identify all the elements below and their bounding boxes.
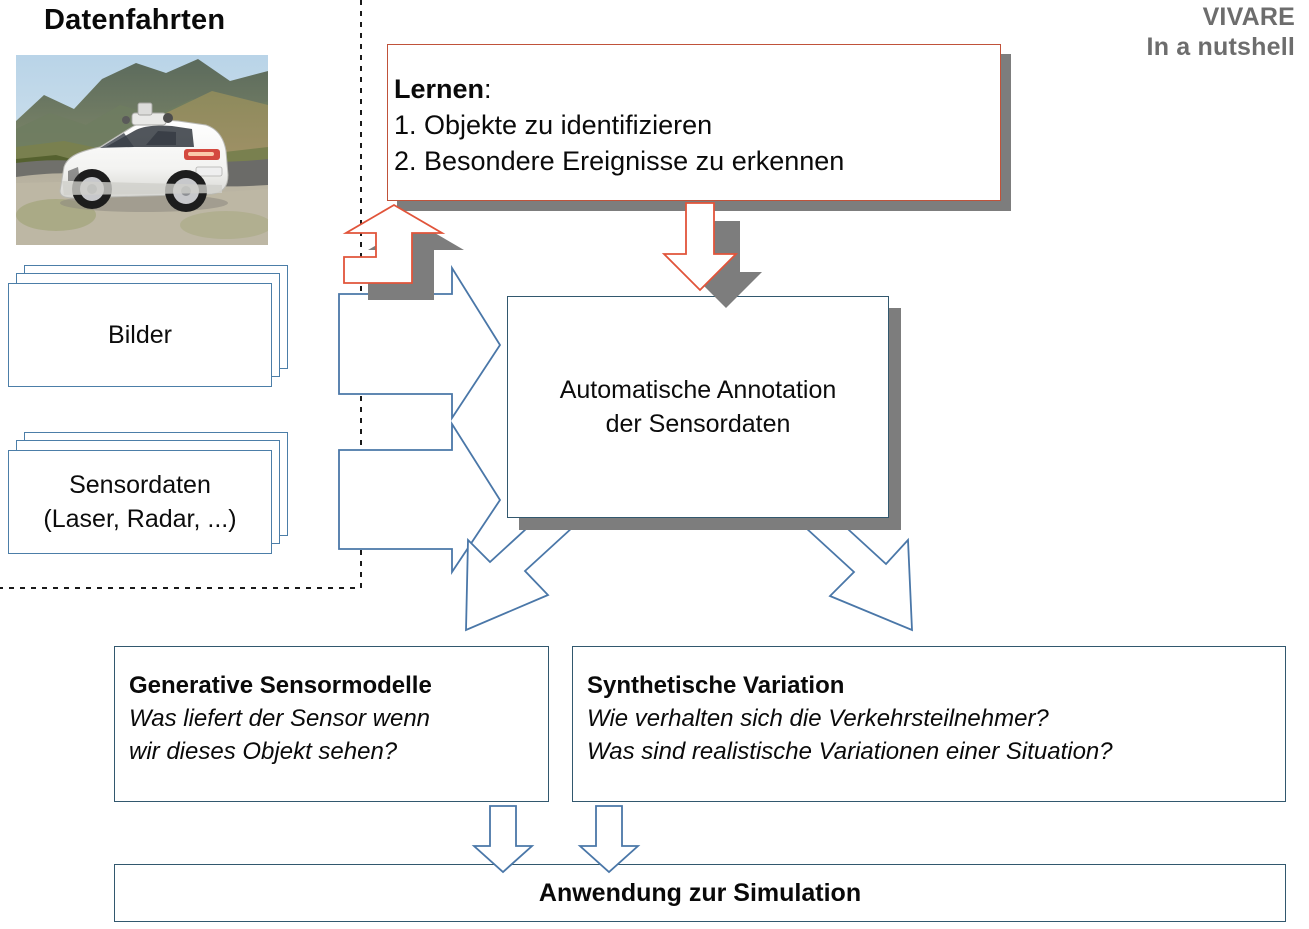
stack-sheet-front: Bilder: [8, 283, 272, 387]
input-label-bilder: Bilder: [108, 318, 172, 352]
result-question-generative-2: wir dieses Objekt sehen?: [129, 735, 548, 768]
arrow-lernen-to-annotation: [664, 203, 762, 308]
brand-header: VIVARE In a nutshell: [1147, 2, 1295, 62]
input-stack-sensordaten: Sensordaten (Laser, Radar, ...): [0, 432, 300, 562]
lernen-box: Lernen: 1. Objekte zu identifizieren 2. …: [387, 44, 1001, 201]
result-question-synthetic-1: Wie verhalten sich die Verkehrsteilnehme…: [587, 702, 1285, 735]
result-text-synthetic: Synthetische Variation Wie verhalten sic…: [573, 647, 1285, 768]
measurement-vehicle-photo: [16, 55, 268, 245]
result-question-synthetic-2: Was sind realistische Variationen einer …: [587, 735, 1285, 768]
stack-sheet-front: Sensordaten (Laser, Radar, ...): [8, 450, 272, 554]
arrow-synthetic-to-application: [580, 806, 638, 872]
arrow-down-shadow: [690, 221, 762, 308]
annotation-box-label: Automatische Annotation der Sensordaten: [560, 373, 837, 441]
result-heading-synthetic: Synthetische Variation: [587, 669, 1285, 702]
annotation-box: Automatische Annotation der Sensordaten: [507, 296, 889, 518]
lernen-heading-line: Lernen:: [394, 71, 1000, 107]
result-text-generative: Generative Sensormodelle Was liefert der…: [115, 647, 548, 768]
input-label-sensordaten: Sensordaten (Laser, Radar, ...): [43, 468, 236, 536]
arrow-down-outline: [664, 203, 736, 290]
arrow-up-outline: [344, 205, 442, 283]
diagram-canvas: VIVARE In a nutshell Datenfahrten: [0, 0, 1309, 929]
arrow-sensordaten-to-annotation: [339, 424, 500, 572]
result-box-synthetische-variation: Synthetische Variation Wie verhalten sic…: [572, 646, 1286, 802]
application-box-label: Anwendung zur Simulation: [539, 879, 861, 908]
arrow-annotation-to-lernen: [344, 205, 464, 300]
datenfahrten-title: Datenfahrten: [44, 4, 225, 37]
arrow-bilder-to-annotation: [339, 268, 500, 418]
lernen-item-1: 1. Objekte zu identifizieren: [394, 107, 1000, 143]
lernen-heading: Lernen: [394, 74, 484, 104]
lernen-heading-suffix: :: [484, 74, 492, 104]
input-stack-bilder: Bilder: [0, 265, 300, 393]
arrow-generative-to-application: [474, 806, 532, 872]
lernen-text: Lernen: 1. Objekte zu identifizieren 2. …: [388, 45, 1000, 179]
arrow-annotation-to-generative: [466, 518, 573, 630]
lernen-item-2: 2. Besondere Ereignisse zu erkennen: [394, 143, 1000, 179]
arrow-annotation-to-synthetic: [806, 520, 912, 630]
application-box: Anwendung zur Simulation: [114, 864, 1286, 922]
brand-tagline: In a nutshell: [1147, 32, 1295, 62]
brand-name: VIVARE: [1147, 2, 1295, 32]
result-question-generative-1: Was liefert der Sensor wenn: [129, 702, 548, 735]
result-box-generative-sensormodelle: Generative Sensormodelle Was liefert der…: [114, 646, 549, 802]
arrow-up-shadow: [368, 222, 464, 300]
result-heading-generative: Generative Sensormodelle: [129, 669, 548, 702]
